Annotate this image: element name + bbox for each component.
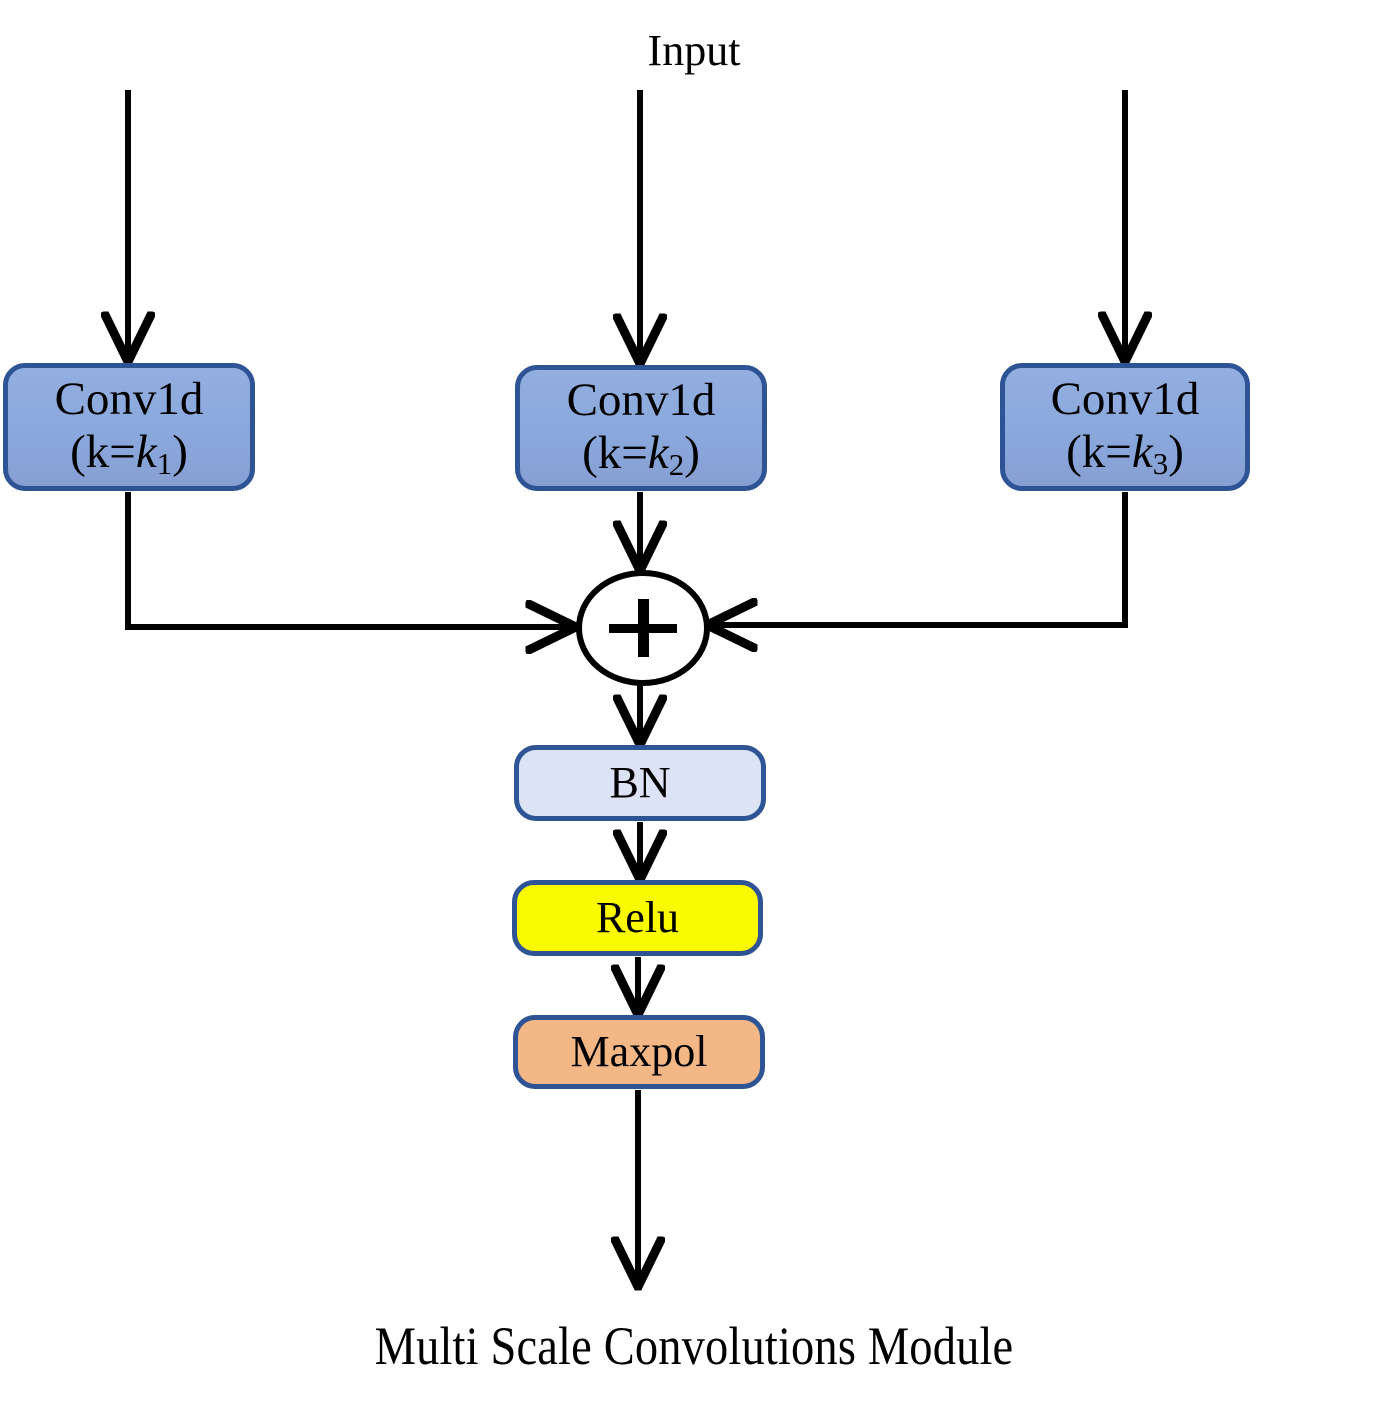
- diagram-canvas: Input Conv1d (k=k1) Conv1d (k=k2) Conv1d…: [0, 0, 1388, 1405]
- node-conv1d-k2[interactable]: Conv1d (k=k2): [515, 365, 767, 491]
- node-relu-label: Relu: [596, 894, 679, 942]
- conv1d-k1-symbol: k: [136, 426, 157, 478]
- edge-conv-right-to-adder: [712, 492, 1125, 625]
- node-maxpol-label: Maxpol: [571, 1028, 708, 1076]
- node-maxpol[interactable]: Maxpol: [513, 1015, 765, 1089]
- conv1d-k2-suffix: ): [684, 427, 700, 479]
- diagram-caption: Multi Scale Convolutions Module: [97, 1315, 1291, 1377]
- node-conv1d-k2-line2: (k=k2): [582, 428, 700, 481]
- conv1d-k1-subscript: 1: [157, 446, 173, 481]
- node-conv1d-k2-line1: Conv1d: [567, 375, 716, 426]
- conv1d-k3-symbol: k: [1132, 426, 1153, 478]
- conv1d-k1-suffix: ): [172, 426, 188, 478]
- node-conv1d-k3-line1: Conv1d: [1051, 374, 1200, 425]
- conv1d-k2-subscript: 2: [669, 447, 685, 482]
- edge-conv-left-to-adder: [128, 492, 571, 627]
- conv1d-k2-symbol: k: [648, 427, 669, 479]
- diagram-edges: [0, 0, 1388, 1405]
- node-conv1d-k1[interactable]: Conv1d (k=k1): [3, 363, 255, 491]
- node-conv1d-k3-line2: (k=k3): [1066, 427, 1184, 480]
- conv1d-k3-prefix: (k=: [1066, 426, 1132, 478]
- node-conv1d-k1-line1: Conv1d: [55, 374, 204, 425]
- node-conv1d-k1-line2: (k=k1): [70, 427, 188, 480]
- node-conv1d-k3[interactable]: Conv1d (k=k3): [1000, 363, 1250, 491]
- conv1d-k3-suffix: ): [1168, 426, 1184, 478]
- node-bn-label: BN: [609, 759, 670, 807]
- node-bn[interactable]: BN: [514, 745, 766, 821]
- input-label: Input: [0, 25, 1388, 76]
- conv1d-k3-subscript: 3: [1153, 446, 1169, 481]
- node-relu[interactable]: Relu: [512, 880, 763, 956]
- conv1d-k1-prefix: (k=: [70, 426, 136, 478]
- plus-icon-vertical-bar: [638, 599, 649, 657]
- adder-node[interactable]: [576, 570, 710, 686]
- conv1d-k2-prefix: (k=: [582, 427, 648, 479]
